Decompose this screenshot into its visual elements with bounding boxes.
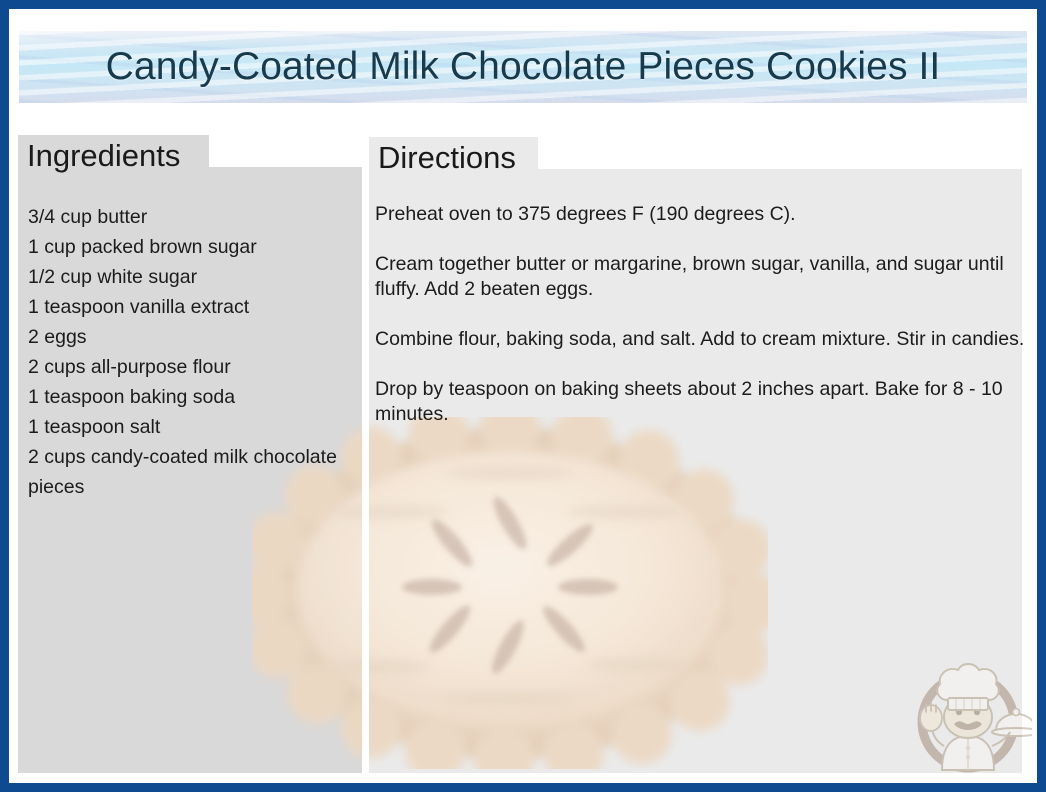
serving-dome-icon bbox=[992, 709, 1032, 737]
list-item: 2 cups candy-coated milk chocolate piece… bbox=[28, 442, 348, 502]
directions-list: Preheat oven to 375 degrees F (190 degre… bbox=[375, 202, 1025, 452]
title-banner: Candy-Coated Milk Chocolate Pieces Cooki… bbox=[19, 31, 1027, 103]
chef-logo-icon bbox=[904, 654, 1032, 776]
list-item: 1/2 cup white sugar bbox=[28, 262, 348, 292]
panel-divider bbox=[362, 167, 369, 773]
page-title: Candy-Coated Milk Chocolate Pieces Cooki… bbox=[19, 45, 1027, 89]
recipe-card: Candy-Coated Milk Chocolate Pieces Cooki… bbox=[0, 0, 1046, 792]
ingredients-list: 3/4 cup butter 1 cup packed brown sugar … bbox=[28, 202, 348, 502]
list-item: 2 cups all-purpose flour bbox=[28, 352, 348, 382]
list-item: 1 cup packed brown sugar bbox=[28, 232, 348, 262]
ingredients-heading: Ingredients bbox=[18, 135, 209, 179]
direction-step: Combine flour, baking soda, and salt. Ad… bbox=[375, 327, 1025, 352]
list-item: 2 eggs bbox=[28, 322, 348, 352]
directions-heading: Directions bbox=[369, 137, 538, 181]
direction-step: Drop by teaspoon on baking sheets about … bbox=[375, 377, 1025, 427]
chef-hat-icon bbox=[937, 664, 999, 710]
list-item: 1 teaspoon salt bbox=[28, 412, 348, 442]
direction-step: Preheat oven to 375 degrees F (190 degre… bbox=[375, 202, 1025, 227]
list-item: 3/4 cup butter bbox=[28, 202, 348, 232]
direction-step: Cream together butter or margarine, brow… bbox=[375, 252, 1025, 302]
pie-top bbox=[296, 451, 724, 727]
list-item: 1 teaspoon vanilla extract bbox=[28, 292, 348, 322]
list-item: 1 teaspoon baking soda bbox=[28, 382, 348, 412]
